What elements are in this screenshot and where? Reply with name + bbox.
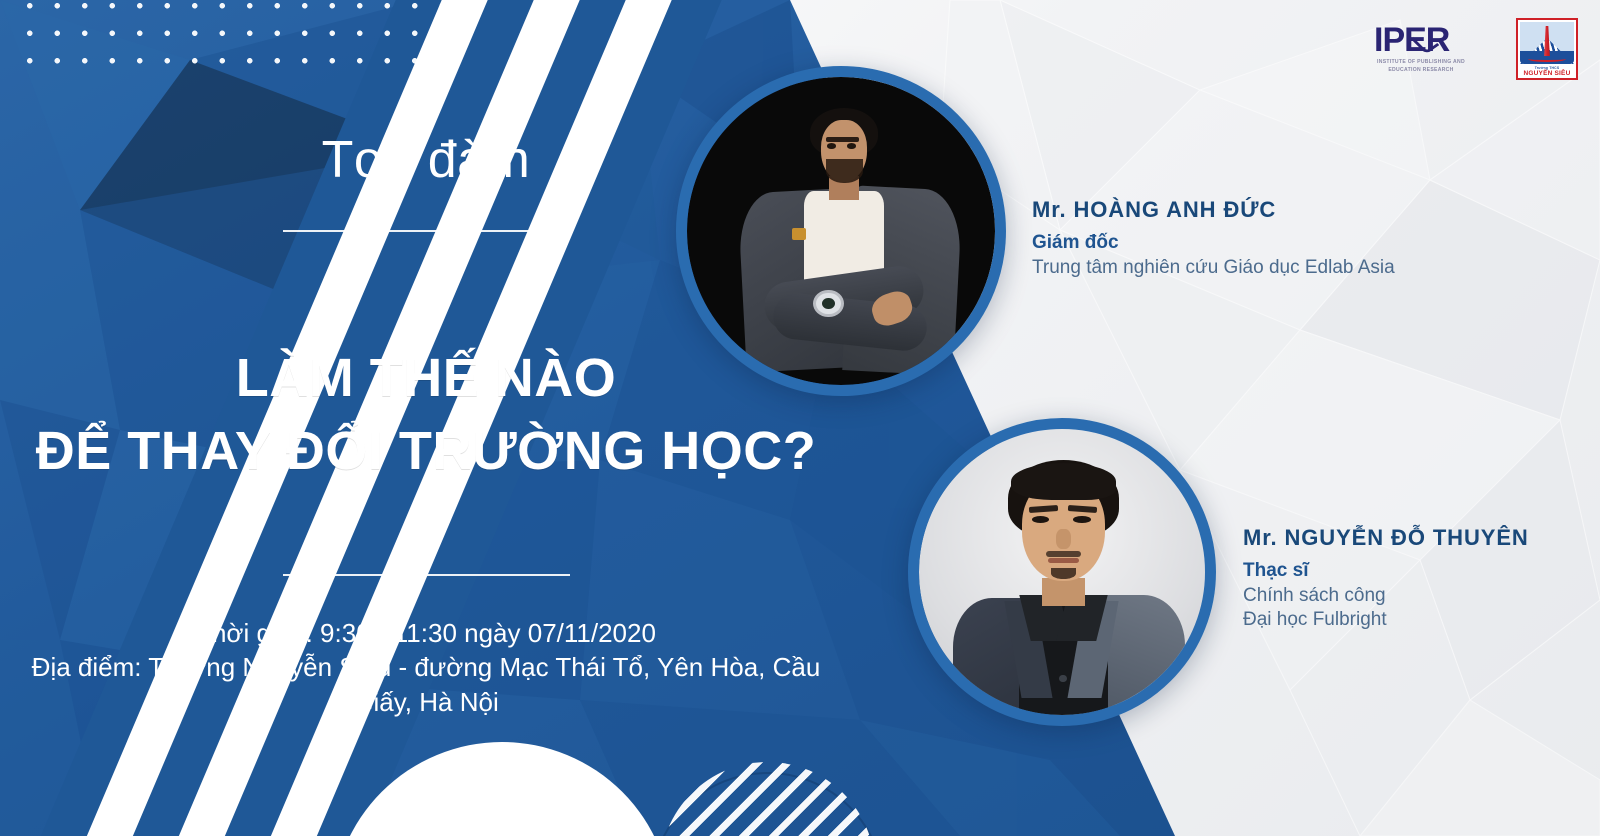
nguyen-sieu-school-logo: Trường THCS NGUYỄN SIÊU bbox=[1516, 18, 1578, 80]
speaker-1-name: Mr. HOÀNG ANH ĐỨC bbox=[1032, 196, 1395, 225]
divider-bottom bbox=[283, 574, 570, 576]
iper-tagline-line-2: EDUCATION RESEARCH bbox=[1388, 67, 1453, 73]
speaker-1-ring bbox=[676, 66, 1006, 396]
logo-group: IPER INSTITUTE OF PUBLISHING AND EDUCATI… bbox=[1374, 18, 1578, 80]
speaker-1-portrait bbox=[676, 66, 1006, 396]
iper-tagline-line-1: INSTITUTE OF PUBLISHING AND bbox=[1377, 59, 1465, 65]
event-place: Địa điểm: Trường Nguyễn Siêu - đường Mạc… bbox=[0, 650, 852, 719]
iper-logo: IPER INSTITUTE OF PUBLISHING AND EDUCATI… bbox=[1374, 23, 1468, 75]
speaker-2-info: Mr. NGUYỄN ĐỖ THUYÊN Thạc sĩ Chính sách … bbox=[1243, 524, 1529, 633]
school-logo-title: NGUYỄN SIÊU bbox=[1524, 70, 1571, 77]
speaker-2-ring bbox=[908, 418, 1216, 726]
event-details: Thời gian: 9:30 - 11:30 ngày 07/11/2020 … bbox=[0, 616, 852, 719]
speaker-2-name: Mr. NGUYỄN ĐỖ THUYÊN bbox=[1243, 524, 1529, 553]
event-poster: Tọa đàm LÀM THẾ NÀO ĐỂ THAY ĐỔI TRƯỜNG H… bbox=[0, 0, 1600, 836]
speaker-1-org-line-1: Trung tâm nghiên cứu Giáo dục Edlab Asia bbox=[1032, 256, 1395, 280]
divider-top bbox=[283, 230, 570, 232]
speaker-2-org-line-1: Chính sách công bbox=[1243, 584, 1529, 608]
headline-line-2: ĐỂ THAY ĐỔI TRƯỜNG HỌC? bbox=[0, 415, 852, 488]
iper-tagline: INSTITUTE OF PUBLISHING AND EDUCATION RE… bbox=[1374, 59, 1468, 74]
speaker-2-role: Thạc sĩ bbox=[1243, 557, 1529, 585]
event-time: Thời gian: 9:30 - 11:30 ngày 07/11/2020 bbox=[0, 616, 852, 650]
speaker-1-role: Giám đốc bbox=[1032, 229, 1395, 257]
speaker-2-portrait bbox=[908, 418, 1216, 726]
speaker-2-org-line-2: Đại học Fulbright bbox=[1243, 608, 1529, 632]
school-logo-wave bbox=[1528, 56, 1565, 62]
speaker-1-info: Mr. HOÀNG ANH ĐỨC Giám đốc Trung tâm ngh… bbox=[1032, 196, 1395, 280]
school-logo-name: Trường THCS NGUYỄN SIÊU bbox=[1518, 66, 1576, 77]
